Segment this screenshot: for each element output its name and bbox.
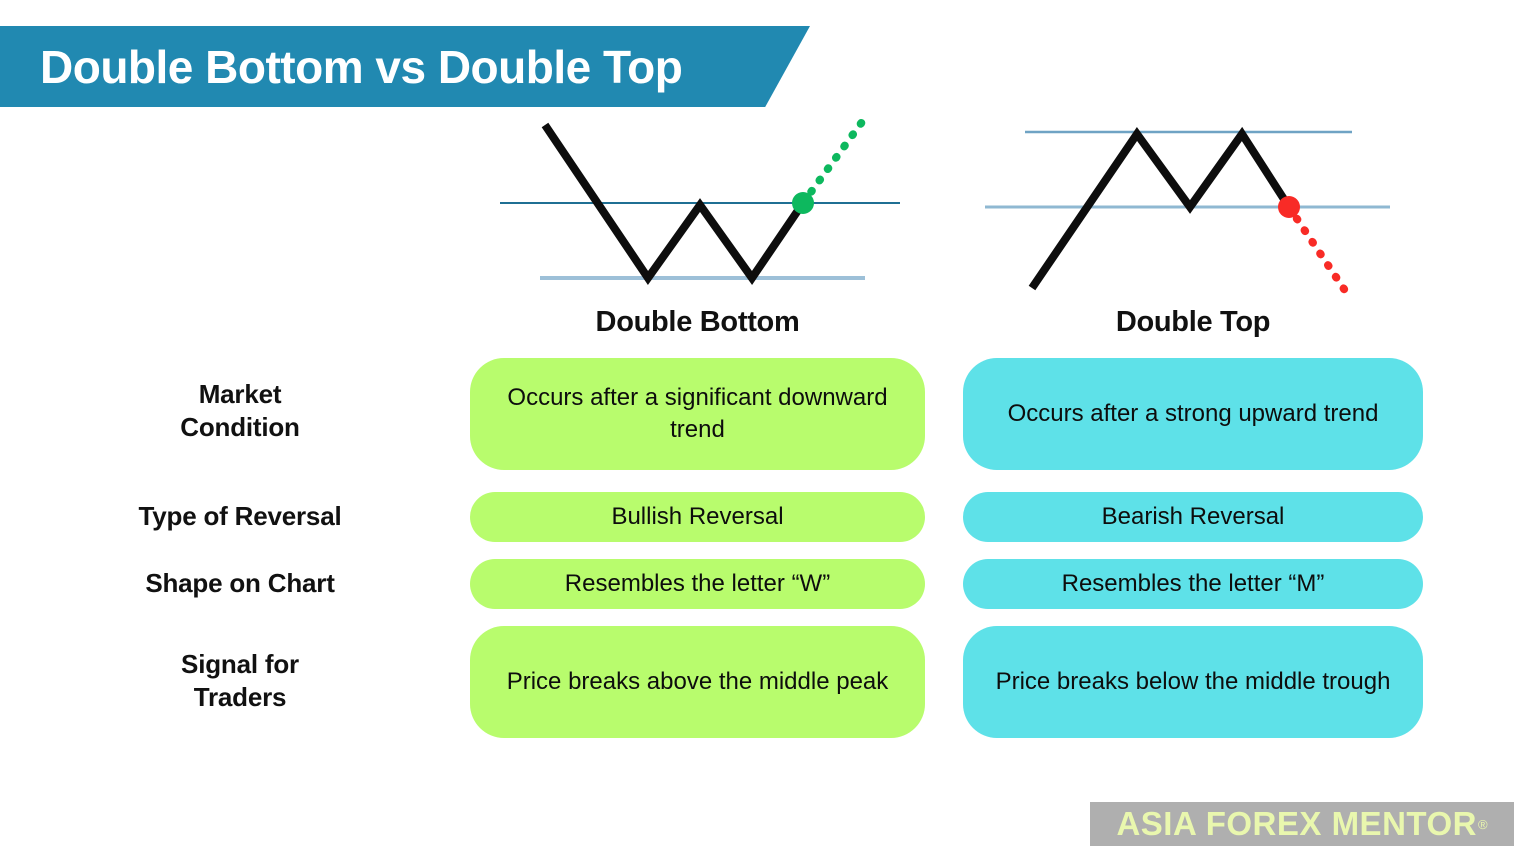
cell-double-top-type-of-reversal: Bearish Reversal xyxy=(963,492,1423,542)
pattern-charts-area xyxy=(0,110,1536,300)
asia-forex-mentor-logo: ASIA FOREX MENTOR® xyxy=(1090,802,1514,846)
bullish-breakout-line xyxy=(803,122,862,203)
cell-double-top-shape-on-chart: Resembles the letter “M” xyxy=(963,559,1423,609)
bearish-breakout-marker-icon xyxy=(1278,196,1300,218)
column-heading-double-bottom: Double Bottom xyxy=(470,306,925,339)
bearish-breakout-line xyxy=(1289,207,1346,292)
row-label-type-of-reversal: Type of Reversal xyxy=(60,500,420,533)
row-label-signal-for-traders: Signal forTraders xyxy=(60,648,420,714)
registered-trademark-icon: ® xyxy=(1478,817,1488,832)
w-pattern-price-line xyxy=(545,125,803,278)
cell-double-bottom-market-condition: Occurs after a significant downward tren… xyxy=(470,358,925,470)
cell-double-top-market-condition: Occurs after a strong upward trend xyxy=(963,358,1423,470)
row-label-shape-on-chart: Shape on Chart xyxy=(60,567,420,600)
cell-double-bottom-type-of-reversal: Bullish Reversal xyxy=(470,492,925,542)
cell-double-bottom-signal-for-traders: Price breaks above the middle peak xyxy=(470,626,925,738)
cell-double-top-signal-for-traders: Price breaks below the middle trough xyxy=(963,626,1423,738)
table-row: Signal forTraders Price breaks above the… xyxy=(0,626,1536,744)
double-top-chart xyxy=(980,110,1400,300)
cell-double-bottom-shape-on-chart: Resembles the letter “W” xyxy=(470,559,925,609)
table-row: Shape on Chart Resembles the letter “W” … xyxy=(0,559,1536,613)
row-label-market-condition: MarketCondition xyxy=(60,378,420,444)
logo-text: ASIA FOREX MENTOR xyxy=(1116,805,1477,843)
m-pattern-price-line xyxy=(1032,134,1289,288)
column-heading-double-top: Double Top xyxy=(963,306,1423,339)
page-title: Double Bottom vs Double Top xyxy=(40,40,682,94)
double-bottom-chart xyxy=(490,110,910,300)
table-row: Type of Reversal Bullish Reversal Bearis… xyxy=(0,492,1536,546)
table-row: MarketCondition Occurs after a significa… xyxy=(0,352,1536,470)
title-banner: Double Bottom vs Double Top xyxy=(0,26,810,107)
bullish-breakout-marker-icon xyxy=(792,192,814,214)
